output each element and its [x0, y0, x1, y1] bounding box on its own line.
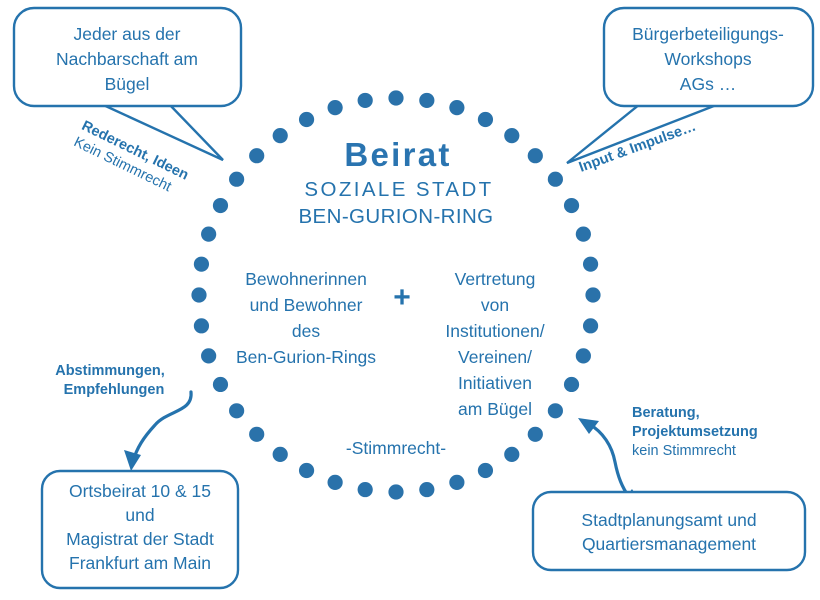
- arrow-bottom-left: [124, 392, 191, 471]
- ring-dot: [328, 100, 343, 115]
- ring-dot: [564, 198, 579, 213]
- box-bottom-right-body: [533, 492, 805, 570]
- box-bottom-right-line-2: Quartiersmanagement: [582, 534, 756, 554]
- box-bottom-left-line-4: Frankfurt am Main: [69, 553, 211, 573]
- ring-dot: [249, 148, 264, 163]
- diagram-svg: Jeder aus der Nachbarschaft am Bügel Red…: [0, 0, 820, 600]
- ring-dot: [388, 90, 403, 105]
- ring-dot: [249, 427, 264, 442]
- ring-dot: [576, 227, 591, 242]
- box-bottom-left-line-2: und: [125, 505, 154, 525]
- ring-dot: [358, 93, 373, 108]
- ring-dot: [548, 403, 563, 418]
- ring-dot: [388, 484, 403, 499]
- ring-dot: [419, 93, 434, 108]
- annotation-bottom-right-line-1: Beratung,: [632, 405, 700, 421]
- bubble-top-right-line-1: Bürgerbeteiligungs-: [632, 24, 784, 44]
- annotation-bottom-left: Abstimmungen, Empfehlungen: [55, 363, 165, 398]
- bubble-top-right-line-2: Workshops: [664, 49, 751, 69]
- arrow-bottom-right-head-upper: [578, 418, 599, 434]
- ring-dot: [201, 348, 216, 363]
- ring-dot: [194, 318, 209, 333]
- ring-dot: [201, 227, 216, 242]
- bubble-top-left-line-1: Jeder aus der: [73, 24, 180, 44]
- ring-dot: [229, 403, 244, 418]
- bubble-top-right-line-3: AGs …: [680, 74, 736, 94]
- center-right-line-2: von: [481, 295, 509, 315]
- diagram-canvas: Jeder aus der Nachbarschaft am Bügel Red…: [0, 0, 820, 600]
- center-left-line-4: Ben-Gurion-Rings: [236, 347, 376, 367]
- ring-dot: [229, 172, 244, 187]
- arrow-bottom-left-head: [124, 450, 141, 471]
- ring-dot: [419, 482, 434, 497]
- box-bottom-right-line-1: Stadtplanungsamt und: [581, 510, 756, 530]
- center-right-line-4: Vereinen/: [458, 347, 532, 367]
- center-right-line-5: Initiativen: [458, 373, 532, 393]
- center-left-line-1: Bewohnerinnen: [245, 269, 367, 289]
- center-left-column: Bewohnerinnen und Bewohner des Ben-Gurio…: [236, 269, 376, 367]
- annotation-bottom-right-line-3: kein Stimmrecht: [632, 443, 736, 459]
- bubble-top-left-line-2: Nachbarschaft am: [56, 49, 198, 69]
- ring-dot: [528, 148, 543, 163]
- ring-dot: [528, 427, 543, 442]
- box-bottom-left-line-3: Magistrat der Stadt: [66, 529, 214, 549]
- ring-dot: [583, 257, 598, 272]
- diagram-subtitle-line-1: SOZIALE STADT: [304, 178, 493, 201]
- annotation-bottom-right-line-2: Projektumsetzung: [632, 424, 758, 440]
- center-right-line-6: am Bügel: [458, 399, 532, 419]
- bubble-top-left-line-3: Bügel: [105, 74, 150, 94]
- box-bottom-left[interactable]: Ortsbeirat 10 & 15 und Magistrat der Sta…: [42, 471, 238, 588]
- center-left-line-3: des: [292, 321, 320, 341]
- ring-dot: [194, 257, 209, 272]
- ring-dot: [299, 112, 314, 127]
- ring-dot: [504, 128, 519, 143]
- annotation-bottom-left-line-1: Abstimmungen,: [55, 363, 165, 379]
- ring-dot: [449, 100, 464, 115]
- box-bottom-right[interactable]: Stadtplanungsamt und Quartiersmanagement: [533, 492, 805, 570]
- ring-dot: [576, 348, 591, 363]
- plus-symbol: +: [393, 281, 411, 314]
- ring-dot: [564, 377, 579, 392]
- center-left-line-2: und Bewohner: [250, 295, 363, 315]
- ring-dot: [504, 447, 519, 462]
- ring-dot: [548, 172, 563, 187]
- ring-dot: [213, 377, 228, 392]
- diagram-subtitle-line-2: BEN-GURION-RING: [298, 205, 493, 228]
- center-right-line-1: Vertretung: [455, 269, 536, 289]
- box-bottom-left-line-1: Ortsbeirat 10 & 15: [69, 481, 211, 501]
- ring-dot: [299, 463, 314, 478]
- ring-dot: [583, 318, 598, 333]
- center-right-column: Vertretung von Institutionen/ Vereinen/ …: [445, 269, 544, 419]
- bubble-top-left-tail: [99, 103, 223, 160]
- ring-dot: [478, 112, 493, 127]
- ring-dot: [585, 287, 600, 302]
- ring-dot: [273, 447, 288, 462]
- ring-dot: [273, 128, 288, 143]
- ring-dot: [449, 475, 464, 490]
- center-right-line-3: Institutionen/: [445, 321, 544, 341]
- ring-dot: [213, 198, 228, 213]
- annotation-bottom-left-line-2: Empfehlungen: [64, 382, 165, 398]
- ring-dot: [191, 287, 206, 302]
- diagram-title: Beirat: [344, 136, 451, 173]
- arrow-bottom-left-path: [133, 392, 191, 461]
- ring-dot: [328, 475, 343, 490]
- ring-dot: [358, 482, 373, 497]
- center-footer-stimmrecht: -Stimmrecht-: [346, 438, 446, 458]
- ring-dot: [478, 463, 493, 478]
- bubble-top-right[interactable]: Bürgerbeteiligungs- Workshops AGs …: [567, 8, 813, 163]
- arrow-bottom-right-path: [589, 424, 629, 497]
- annotation-bottom-right: Beratung, Projektumsetzung kein Stimmrec…: [632, 405, 758, 459]
